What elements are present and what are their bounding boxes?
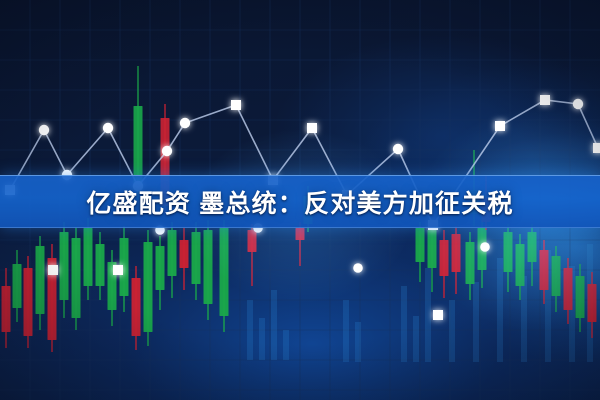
banner-image: 亿盛配资 墨总统：反对美方加征关税 xyxy=(0,0,600,400)
headline-text: 亿盛配资 墨总统：反对美方加征关税 xyxy=(0,175,600,228)
